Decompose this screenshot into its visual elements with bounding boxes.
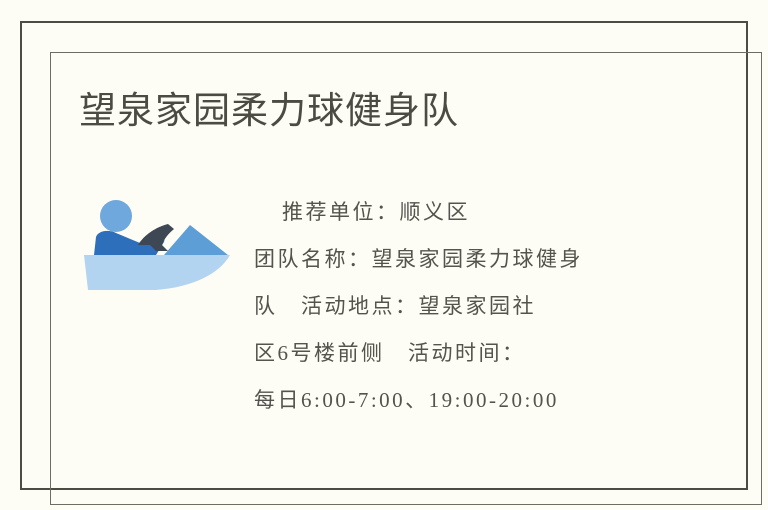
description-line: 推荐单位：顺义区 bbox=[254, 189, 666, 236]
card-frame-outer: 望泉家园柔力球健身队 推荐单位：顺义区 团队名称：望泉家园柔力球健身 队 活动地… bbox=[20, 21, 748, 490]
page-title: 望泉家园柔力球健身队 bbox=[79, 87, 459, 135]
description-block: 推荐单位：顺义区 团队名称：望泉家园柔力球健身 队 活动地点：望泉家园社 区6号… bbox=[254, 189, 666, 424]
description-line: 队 活动地点：望泉家园社 bbox=[254, 283, 666, 330]
description-line: 区6号楼前侧 活动时间： bbox=[254, 330, 666, 377]
page-root: 望泉家园柔力球健身队 推荐单位：顺义区 团队名称：望泉家园柔力球健身 队 活动地… bbox=[0, 0, 768, 510]
description-line: 每日6:00-7:00、19:00-20:00 bbox=[254, 377, 666, 424]
rowing-person-icon bbox=[82, 193, 230, 293]
description-line: 团队名称：望泉家园柔力球健身 bbox=[254, 236, 666, 283]
